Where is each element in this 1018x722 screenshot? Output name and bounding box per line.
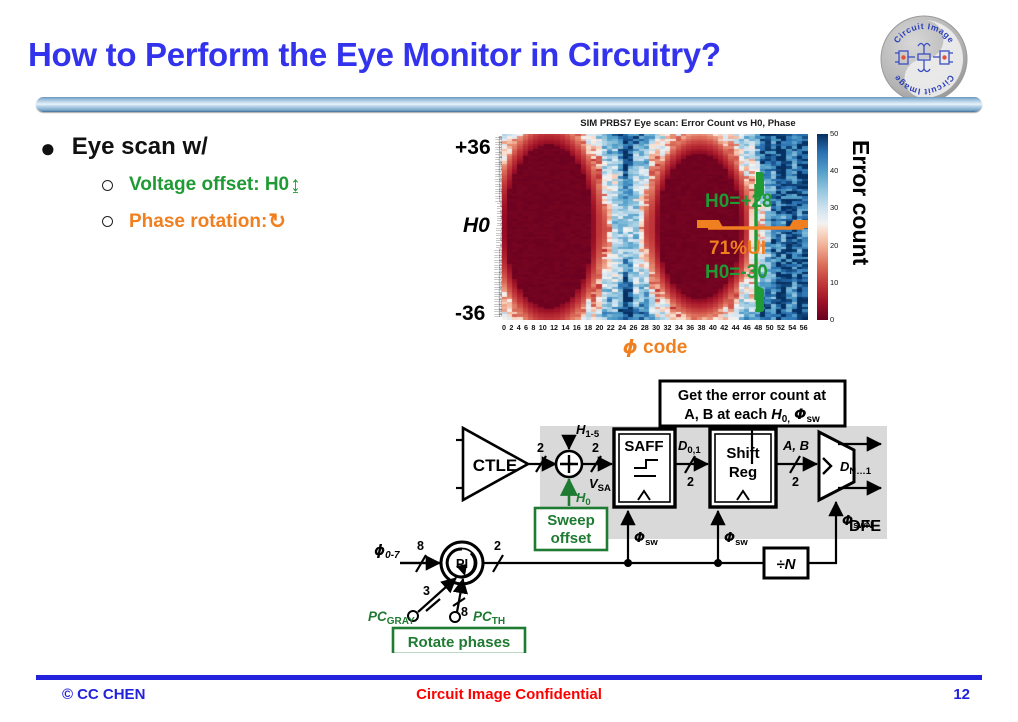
- callout-line1: Get the error count at: [678, 388, 826, 404]
- x-tick-label: 26: [629, 323, 637, 332]
- signal-pcgray: PCGRAY: [368, 609, 415, 627]
- x-tick-label: 38: [698, 323, 706, 332]
- x-tick-label: 48: [754, 323, 762, 332]
- x-tick-label: 56: [800, 323, 808, 332]
- x-tick-label: 42: [720, 323, 728, 332]
- colorbar: Error count 01020304050: [817, 134, 891, 326]
- saff-label: SAFF: [624, 438, 663, 455]
- x-tick-label: 30: [652, 323, 660, 332]
- page-title: How to Perform the Eye Monitor in Circui…: [28, 36, 878, 74]
- signal-ab: A, B: [782, 438, 809, 453]
- x-tick-label: 20: [595, 323, 603, 332]
- footer-divider: [36, 675, 982, 680]
- bullet-block: ● Eye scan w/ Voltage offset: H0 ↨ Phase…: [40, 133, 430, 234]
- shift-reg-block: Shift Reg: [710, 429, 776, 507]
- x-tick-label: 14: [561, 323, 569, 332]
- sweep-offset-line2: offset: [551, 530, 592, 547]
- colorbar-tick-label: 0: [830, 315, 834, 324]
- bus-width-3: 3: [423, 584, 430, 598]
- eye-width-arrow-icon: [697, 220, 808, 236]
- divider-label: ÷N: [776, 556, 796, 573]
- bus-width-8b: 8: [461, 605, 468, 619]
- x-tick-label: 18: [584, 323, 592, 332]
- signal-phi07: ϕ0-7: [374, 543, 400, 561]
- bullet-sub-label-1: Phase rotation:: [129, 211, 267, 233]
- x-tick-label: 4: [517, 323, 521, 332]
- error-count-callout: Get the error count at A, B at each H0, …: [660, 381, 845, 426]
- pi-block: PI: [441, 542, 483, 584]
- chart-title: SIM PRBS7 Eye scan: Error Count vs H0, P…: [538, 118, 838, 129]
- circuit-image-logo: Circuit Image Circuit Image: [878, 13, 970, 105]
- bus-width-2a: 2: [537, 441, 544, 455]
- heatmap-plot: H0=+28 71%UI H0=-30: [502, 134, 808, 320]
- annotation-eye-height-upper: H0=+28: [705, 191, 773, 213]
- x-tick-label: 40: [709, 323, 717, 332]
- x-tick-label: 10: [539, 323, 547, 332]
- bullet-sub-label-0: Voltage offset: H0: [129, 174, 289, 196]
- x-tick-label: 6: [524, 323, 528, 332]
- x-tick-label: 2: [509, 323, 513, 332]
- footer-confidential-notice: Circuit Image Confidential: [0, 686, 1018, 703]
- annotation-eye-height-lower: H0=-30: [705, 262, 768, 284]
- summer-block: [556, 451, 582, 477]
- bullet-ring-icon: [102, 216, 113, 227]
- bus-width-2b: 2: [592, 441, 599, 455]
- bullet-sub-phase-rotation: Phase rotation: ↻: [102, 209, 430, 234]
- y-axis-max-label: +36: [455, 136, 491, 160]
- ctle-label: CTLE: [473, 456, 517, 475]
- x-tick-label: 28: [641, 323, 649, 332]
- callout-line2: A, B at each H0, Φsw: [684, 407, 820, 425]
- bullet-main: ● Eye scan w/: [40, 133, 430, 161]
- bus-width-8a: 8: [417, 539, 424, 553]
- x-tick-label: 0: [502, 323, 506, 332]
- junction-dot: [624, 559, 632, 567]
- x-tick-label: 32: [664, 323, 672, 332]
- x-tick-label: 16: [573, 323, 581, 332]
- colorbar-title: Error count: [847, 140, 874, 265]
- footer-page-number: 12: [953, 686, 970, 703]
- rotate-phases-label: Rotate phases: [408, 634, 511, 651]
- x-tick-label: 50: [766, 323, 774, 332]
- x-axis-ticks: 0246810121416182022242628303234363840424…: [502, 323, 808, 332]
- bus-width-2c: 2: [687, 475, 694, 489]
- x-tick-label: 12: [550, 323, 558, 332]
- bus-width-2d: 2: [792, 475, 799, 489]
- colorbar-tick-label: 10: [830, 278, 838, 287]
- bullet-sub-voltage-offset: Voltage offset: H0 ↨: [102, 173, 430, 197]
- pi-label: PI: [456, 556, 468, 571]
- signal-pcth: PCTH: [473, 609, 505, 627]
- x-tick-label: 46: [743, 323, 751, 332]
- bullet-dot-icon: ●: [40, 135, 56, 161]
- x-tick-label: 8: [531, 323, 535, 332]
- bullet-main-label: Eye scan w/: [72, 133, 208, 161]
- y-axis-min-label: -36: [455, 302, 485, 326]
- dfe-block-diagram: CTLE 2 H1-5 H0 Sweep offset 2 VSA SAFF D…: [360, 378, 900, 653]
- shift-reg-line1: Shift: [726, 445, 759, 462]
- rotation-arrow-icon: ↻: [268, 209, 286, 234]
- y-axis-dense-ticks: —36 —35 —34 —33 —32 —31 —30 —29 —28 —27 …: [491, 136, 502, 320]
- x-tick-label: 34: [675, 323, 683, 332]
- colorbar-gradient: [817, 134, 828, 320]
- saff-block: SAFF: [614, 429, 675, 507]
- x-axis-title: ϕ code: [502, 336, 808, 359]
- title-divider: [36, 97, 982, 112]
- x-tick-label: 52: [777, 323, 785, 332]
- pcth-terminal: [450, 612, 460, 622]
- up-down-arrow-icon: ↨: [290, 173, 301, 197]
- bus-width-2e: 2: [494, 539, 501, 553]
- divider-block: ÷N: [764, 548, 808, 578]
- bullet-ring-icon: [102, 180, 113, 191]
- colorbar-tick-label: 30: [830, 203, 838, 212]
- sweep-offset-line1: Sweep: [547, 512, 595, 529]
- sweep-offset-box: Sweep offset: [535, 508, 607, 550]
- x-tick-label: 44: [732, 323, 740, 332]
- colorbar-tick-label: 40: [830, 166, 838, 175]
- colorbar-tick-label: 20: [830, 241, 838, 250]
- x-tick-label: 36: [686, 323, 694, 332]
- x-tick-label: 54: [788, 323, 796, 332]
- x-tick-label: 22: [607, 323, 615, 332]
- annotation-eye-width: 71%UI: [709, 238, 766, 260]
- x-tick-label: 24: [618, 323, 626, 332]
- shift-reg-line2: Reg: [729, 464, 757, 481]
- y-axis-title: H0: [463, 214, 490, 238]
- colorbar-tick-label: 50: [830, 129, 838, 138]
- eye-scan-figure: SIM PRBS7 Eye scan: Error Count vs H0, P…: [455, 118, 895, 368]
- junction-dot: [714, 559, 722, 567]
- rotate-phases-box: Rotate phases: [393, 628, 525, 653]
- ctle-block: CTLE: [456, 428, 528, 500]
